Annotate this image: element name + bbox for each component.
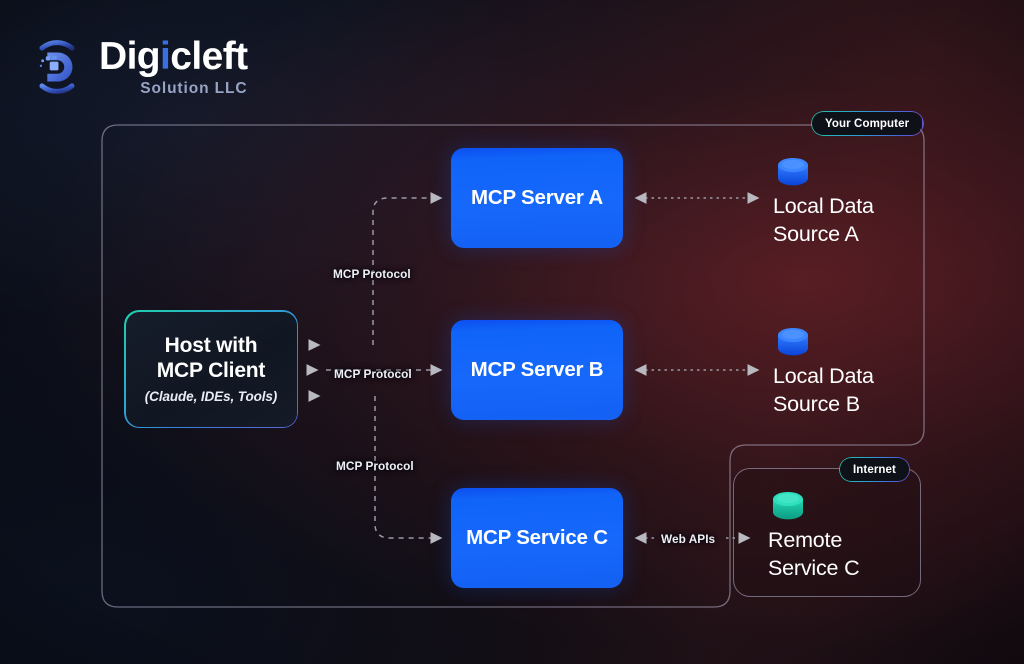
brand-logo: Digicleft Solution LLC bbox=[26, 25, 326, 109]
database-cylinder-icon bbox=[775, 158, 811, 188]
node-mcp-service-c[interactable]: MCP Service C bbox=[451, 488, 623, 588]
diagram-canvas: Digicleft Solution LLC bbox=[0, 0, 1024, 664]
node-local-data-source-a[interactable]: Local Data Source A bbox=[773, 158, 874, 248]
host-subtitle: (Claude, IDEs, Tools) bbox=[145, 389, 277, 404]
node-remote-service-c[interactable]: Remote Service C bbox=[768, 492, 859, 582]
brand-wordmark: Digicleft Solution LLC bbox=[99, 37, 247, 97]
node-mcp-server-b[interactable]: MCP Server B bbox=[451, 320, 623, 420]
connector-label-mcp-protocol-c: MCP Protocol bbox=[336, 459, 414, 473]
host-title-line1: Host with bbox=[165, 334, 258, 357]
node-label: MCP Service C bbox=[466, 526, 608, 550]
database-cylinder-icon bbox=[775, 328, 811, 358]
node-label: Local Data Source B bbox=[773, 363, 874, 418]
host-title-line2: MCP Client bbox=[157, 359, 265, 382]
digicleft-logo-icon bbox=[26, 36, 88, 98]
node-host-with-mcp-client[interactable]: Host with MCP Client (Claude, IDEs, Tool… bbox=[124, 310, 298, 428]
connector-label-mcp-protocol-a: MCP Protocol bbox=[333, 267, 411, 281]
node-label: MCP Server B bbox=[471, 358, 604, 382]
node-label: MCP Server A bbox=[471, 186, 603, 210]
node-local-data-source-b[interactable]: Local Data Source B bbox=[773, 328, 874, 418]
database-cylinder-icon bbox=[770, 492, 806, 522]
connector-label-mcp-protocol-b: MCP Protocol bbox=[334, 367, 412, 381]
zone-badge-internet: Internet bbox=[840, 458, 909, 481]
node-label: Local Data Source A bbox=[773, 193, 874, 248]
brand-name-part2: cleft bbox=[170, 35, 247, 78]
zone-badge-your-computer: Your Computer bbox=[812, 112, 922, 135]
node-label: Remote Service C bbox=[768, 527, 859, 582]
brand-name-part1: Dig bbox=[99, 35, 160, 78]
brand-name-accent: i bbox=[160, 35, 170, 78]
brand-name: Digicleft bbox=[99, 37, 247, 76]
host-title: Host with MCP Client bbox=[157, 334, 265, 383]
brand-tagline: Solution LLC bbox=[140, 81, 247, 97]
connector-label-web-apis: Web APIs bbox=[661, 532, 715, 546]
node-mcp-server-a[interactable]: MCP Server A bbox=[451, 148, 623, 248]
